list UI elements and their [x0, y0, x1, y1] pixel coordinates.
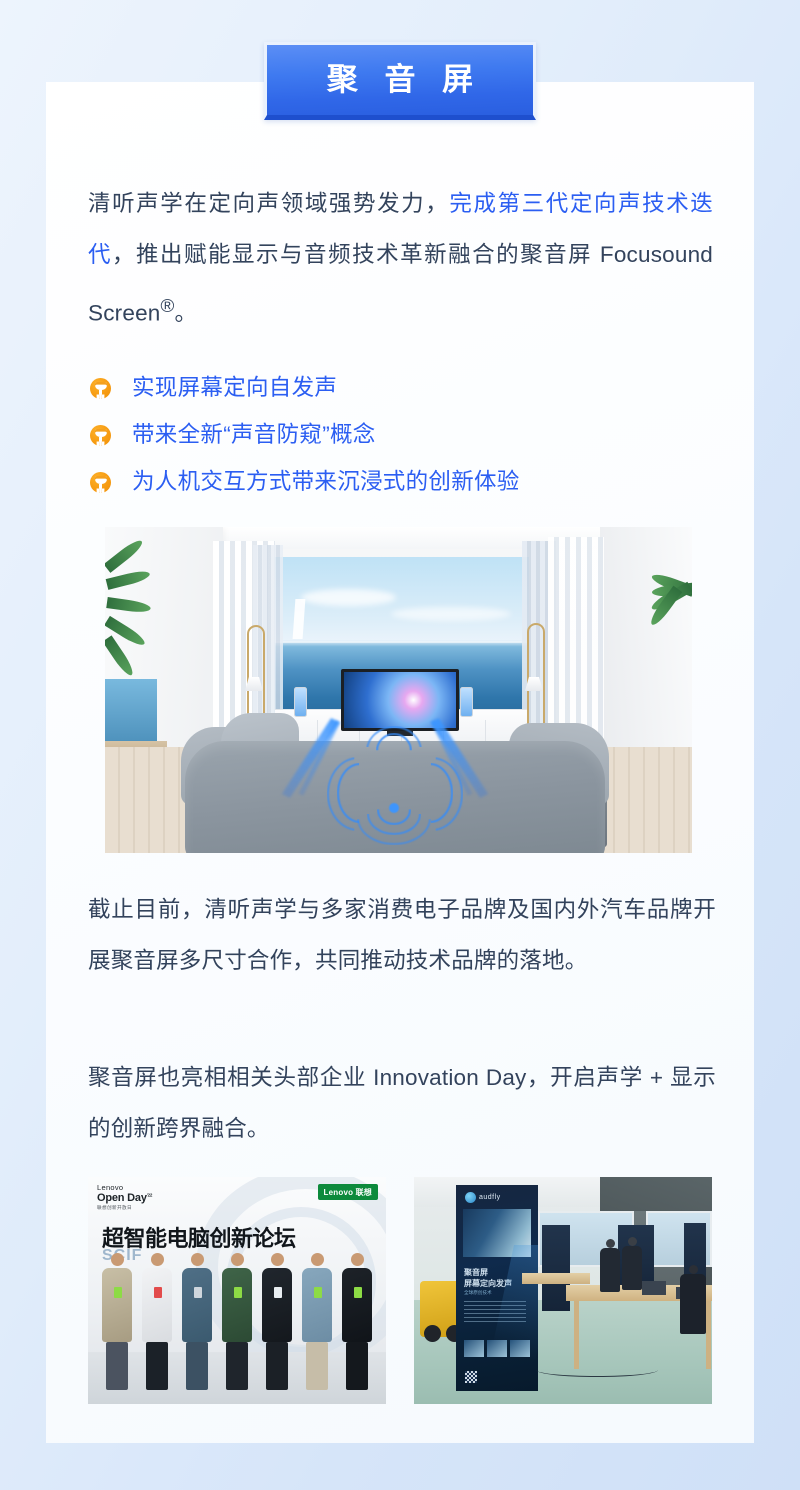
palm-tree-left-icon [107, 557, 169, 687]
logo-line-1: Lenovo [97, 1184, 152, 1192]
hero-scene [105, 527, 692, 853]
banner-thumbnail [464, 1340, 484, 1357]
person [182, 1253, 212, 1390]
lenovo-logo: Lenovo Open Day'22 联想创新开放日 [97, 1184, 152, 1210]
intro-part3: 。 [175, 301, 198, 326]
page-root: { "banner": { "title": "聚 音 屏", "accent_… [0, 0, 800, 1490]
list-item-label: 实现屏幕定向自发声 [132, 377, 337, 400]
audfly-brand-name: audfly [479, 1194, 501, 1201]
person [142, 1253, 172, 1390]
list-item: 为人机交互方式带来沉浸式的创新体验 [88, 459, 713, 506]
cloud [391, 607, 511, 621]
hero-image-livingroom [105, 527, 692, 853]
intro-section: 清听声学在定向声领域强势发力，完成第三代定向声技术迭代，推出赋能显示与音频技术革… [88, 178, 713, 506]
title-banner: 聚 音 屏 [264, 42, 536, 120]
person [102, 1253, 132, 1390]
feature-list: 实现屏幕定向自发声 带来全新“声音防窥”概念 为人机交互方式带来沉浸式的创新体验 [88, 365, 713, 506]
photo-row: Lenovo Open Day'22 联想创新开放日 Lenovo 联想 超智能… [88, 1177, 712, 1404]
horizon-line [271, 641, 529, 643]
group-photo-people [88, 1246, 386, 1390]
logo-line-2: Open Day'22 [97, 1192, 152, 1204]
qr-code-icon [465, 1371, 477, 1383]
intro-paragraph: 清听声学在定向声领域强势发力，完成第三代定向声技术迭代，推出赋能显示与音频技术革… [88, 178, 713, 339]
soundwave-center-dot [389, 803, 399, 813]
banner-title-1: 聚音屏 [464, 1267, 488, 1278]
paragraph-block-innovation: 聚音屏也亮相相关头部企业 Innovation Day，开启声学 + 显示的创新… [88, 1052, 716, 1154]
speaker-badge-icon [90, 378, 111, 399]
title-banner-box: 聚 音 屏 [264, 42, 536, 120]
list-item-label: 为人机交互方式带来沉浸式的创新体验 [132, 471, 520, 494]
intro-part1: 清听声学在定向声领域强势发力， [88, 191, 449, 216]
badge-icon [314, 1287, 322, 1298]
photo-lenovo-open-day: Lenovo Open Day'22 联想创新开放日 Lenovo 联想 超智能… [88, 1177, 386, 1404]
cloud [301, 589, 396, 606]
badge-icon [114, 1287, 122, 1298]
photo-audfly-exhibition: audfly 聚音屏 屏幕定向发声 全球原创技术 [414, 1177, 712, 1404]
lenovo-brand-tag: Lenovo 联想 [318, 1184, 378, 1200]
floor-cable [536, 1363, 658, 1377]
phone-right-icon [460, 687, 473, 717]
person [222, 1253, 252, 1390]
side-sea [105, 679, 157, 747]
speaker-badge-icon [90, 472, 111, 493]
audfly-mark-icon [465, 1192, 476, 1203]
laptop-icon [642, 1281, 666, 1295]
person [342, 1253, 372, 1390]
person [262, 1253, 292, 1390]
floor-lamp-right [527, 623, 545, 739]
paragraph-block-partners: 截止目前，清听声学与多家消费电子品牌及国内外汽车品牌开展聚音屏多尺寸合作，共同推… [88, 884, 716, 986]
banner-subtitle: 全球原创技术 [464, 1290, 492, 1296]
badge-icon [194, 1287, 202, 1298]
list-item: 带来全新“声音防窥”概念 [88, 412, 713, 459]
logo-openday-text: Open Day [97, 1192, 147, 1204]
badge-icon [354, 1287, 362, 1298]
person [302, 1253, 332, 1390]
badge-icon [234, 1287, 242, 1298]
speaker-badge-icon [90, 425, 111, 446]
badge-icon [274, 1287, 282, 1298]
visitor [680, 1265, 706, 1334]
visitor [622, 1237, 642, 1290]
window-reflection [293, 599, 306, 639]
logo-line-3: 联想创新开放日 [97, 1205, 152, 1210]
badge-icon [154, 1287, 162, 1298]
paragraph-innovation: 聚音屏也亮相相关头部企业 Innovation Day，开启声学 + 显示的创新… [88, 1052, 716, 1154]
palm-tree-right-icon [596, 567, 652, 647]
registered-mark: ® [161, 295, 175, 316]
audfly-rollup-banner: audfly 聚音屏 屏幕定向发声 全球原创技术 [456, 1185, 538, 1391]
list-item: 实现屏幕定向自发声 [88, 365, 713, 412]
page-title: 聚 音 屏 [318, 64, 482, 97]
paragraph-partners: 截止目前，清听声学与多家消费电子品牌及国内外汽车品牌开展聚音屏多尺寸合作，共同推… [88, 884, 716, 986]
side-table [522, 1273, 590, 1284]
visitor [600, 1239, 620, 1292]
logo-year: '22 [147, 1193, 152, 1198]
phone-left-icon [294, 687, 307, 717]
list-item-label: 带来全新“声音防窥”概念 [132, 424, 376, 447]
audfly-logo: audfly [465, 1192, 501, 1203]
